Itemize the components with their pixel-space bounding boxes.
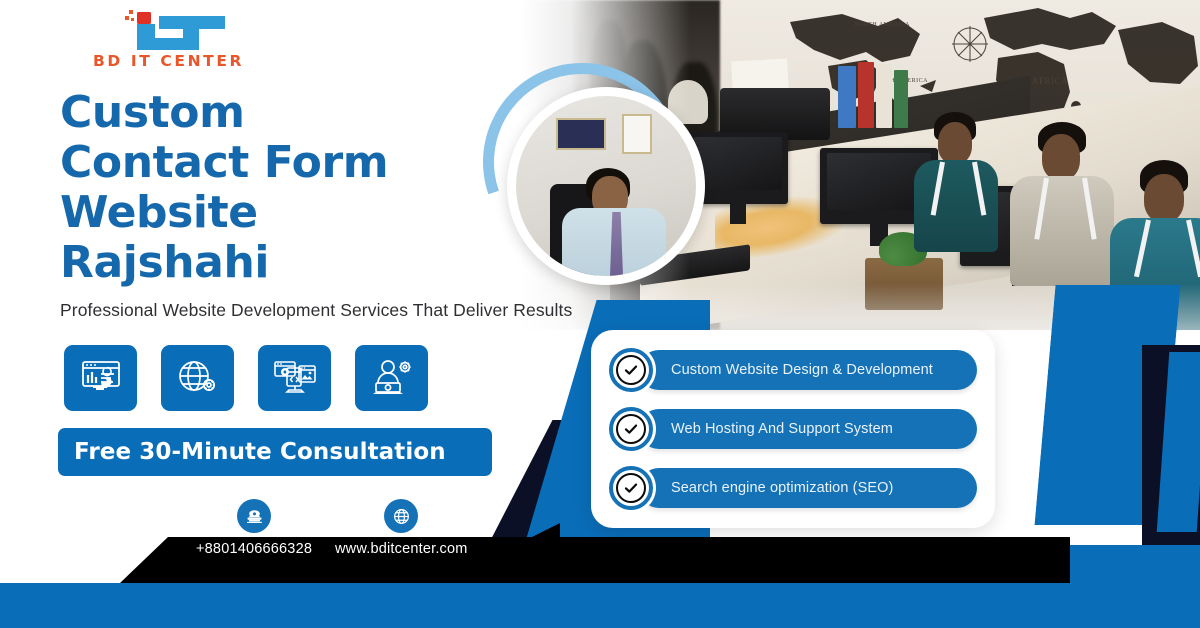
lt-monogram-icon — [111, 8, 231, 52]
footer-blue-bar — [0, 583, 1200, 628]
feature-label: Custom Website Design & Development — [639, 350, 977, 390]
contact-website-value: www.bditcenter.com — [335, 541, 468, 557]
support-agent-icon[interactable] — [355, 345, 428, 411]
analytics-wrench-icon[interactable] — [64, 345, 137, 411]
folder — [838, 66, 856, 128]
wall-photo-frame — [556, 118, 606, 150]
page-title: Custom Contact Form Website Rajshahi — [60, 88, 520, 288]
contact-row: +8801406666328 www.bditcenter.com — [0, 521, 1200, 583]
folder — [858, 62, 874, 128]
headline-line-1: Custom — [60, 88, 520, 138]
wall-certificate — [622, 114, 652, 154]
portrait-ring — [507, 87, 705, 285]
headline-line-2: Contact Form — [60, 138, 520, 188]
check-circle-icon — [609, 407, 653, 451]
list-item[interactable]: Custom Website Design & Development — [609, 346, 977, 394]
headline-line-4: Rajshahi — [60, 238, 520, 288]
check-circle-icon — [609, 348, 653, 392]
feature-label: Web Hosting And Support System — [639, 409, 977, 449]
logo[interactable]: BD IT CENTER — [93, 8, 258, 70]
portrait-photo — [516, 96, 696, 276]
headline-line-3: Website — [60, 188, 520, 238]
features-card: Custom Website Design & Development Web … — [591, 330, 995, 528]
service-icon-row — [64, 345, 428, 411]
monitor-stand — [730, 204, 746, 224]
folder — [894, 70, 908, 128]
feature-label: Search engine optimization (SEO) — [639, 468, 977, 508]
contact-phone-value: +8801406666328 — [196, 541, 312, 557]
logo-text: BD IT CENTER — [93, 52, 258, 70]
subtitle: Professional Website Development Service… — [60, 300, 580, 321]
map-label-north-america: NORTH AMERICA — [854, 22, 910, 28]
promo-banner: NORTH AMERICA SOUTH AMERICA AFRICA OCEAN… — [0, 0, 1200, 628]
globe-icon — [384, 499, 418, 533]
consultation-cta-button[interactable]: Free 30-Minute Consultation — [58, 428, 492, 476]
map-label-africa: AFRICA — [1032, 76, 1068, 86]
check-circle-icon — [609, 466, 653, 510]
list-item[interactable]: Search engine optimization (SEO) — [609, 464, 977, 512]
contact-phone[interactable]: +8801406666328 — [196, 499, 312, 557]
contact-website[interactable]: www.bditcenter.com — [335, 499, 468, 557]
list-item[interactable]: Web Hosting And Support System — [609, 405, 977, 453]
folder — [876, 64, 892, 128]
telephone-icon — [237, 499, 271, 533]
globe-gear-icon[interactable] — [161, 345, 234, 411]
consultant-portrait — [483, 63, 705, 285]
web-design-icon[interactable] — [258, 345, 331, 411]
